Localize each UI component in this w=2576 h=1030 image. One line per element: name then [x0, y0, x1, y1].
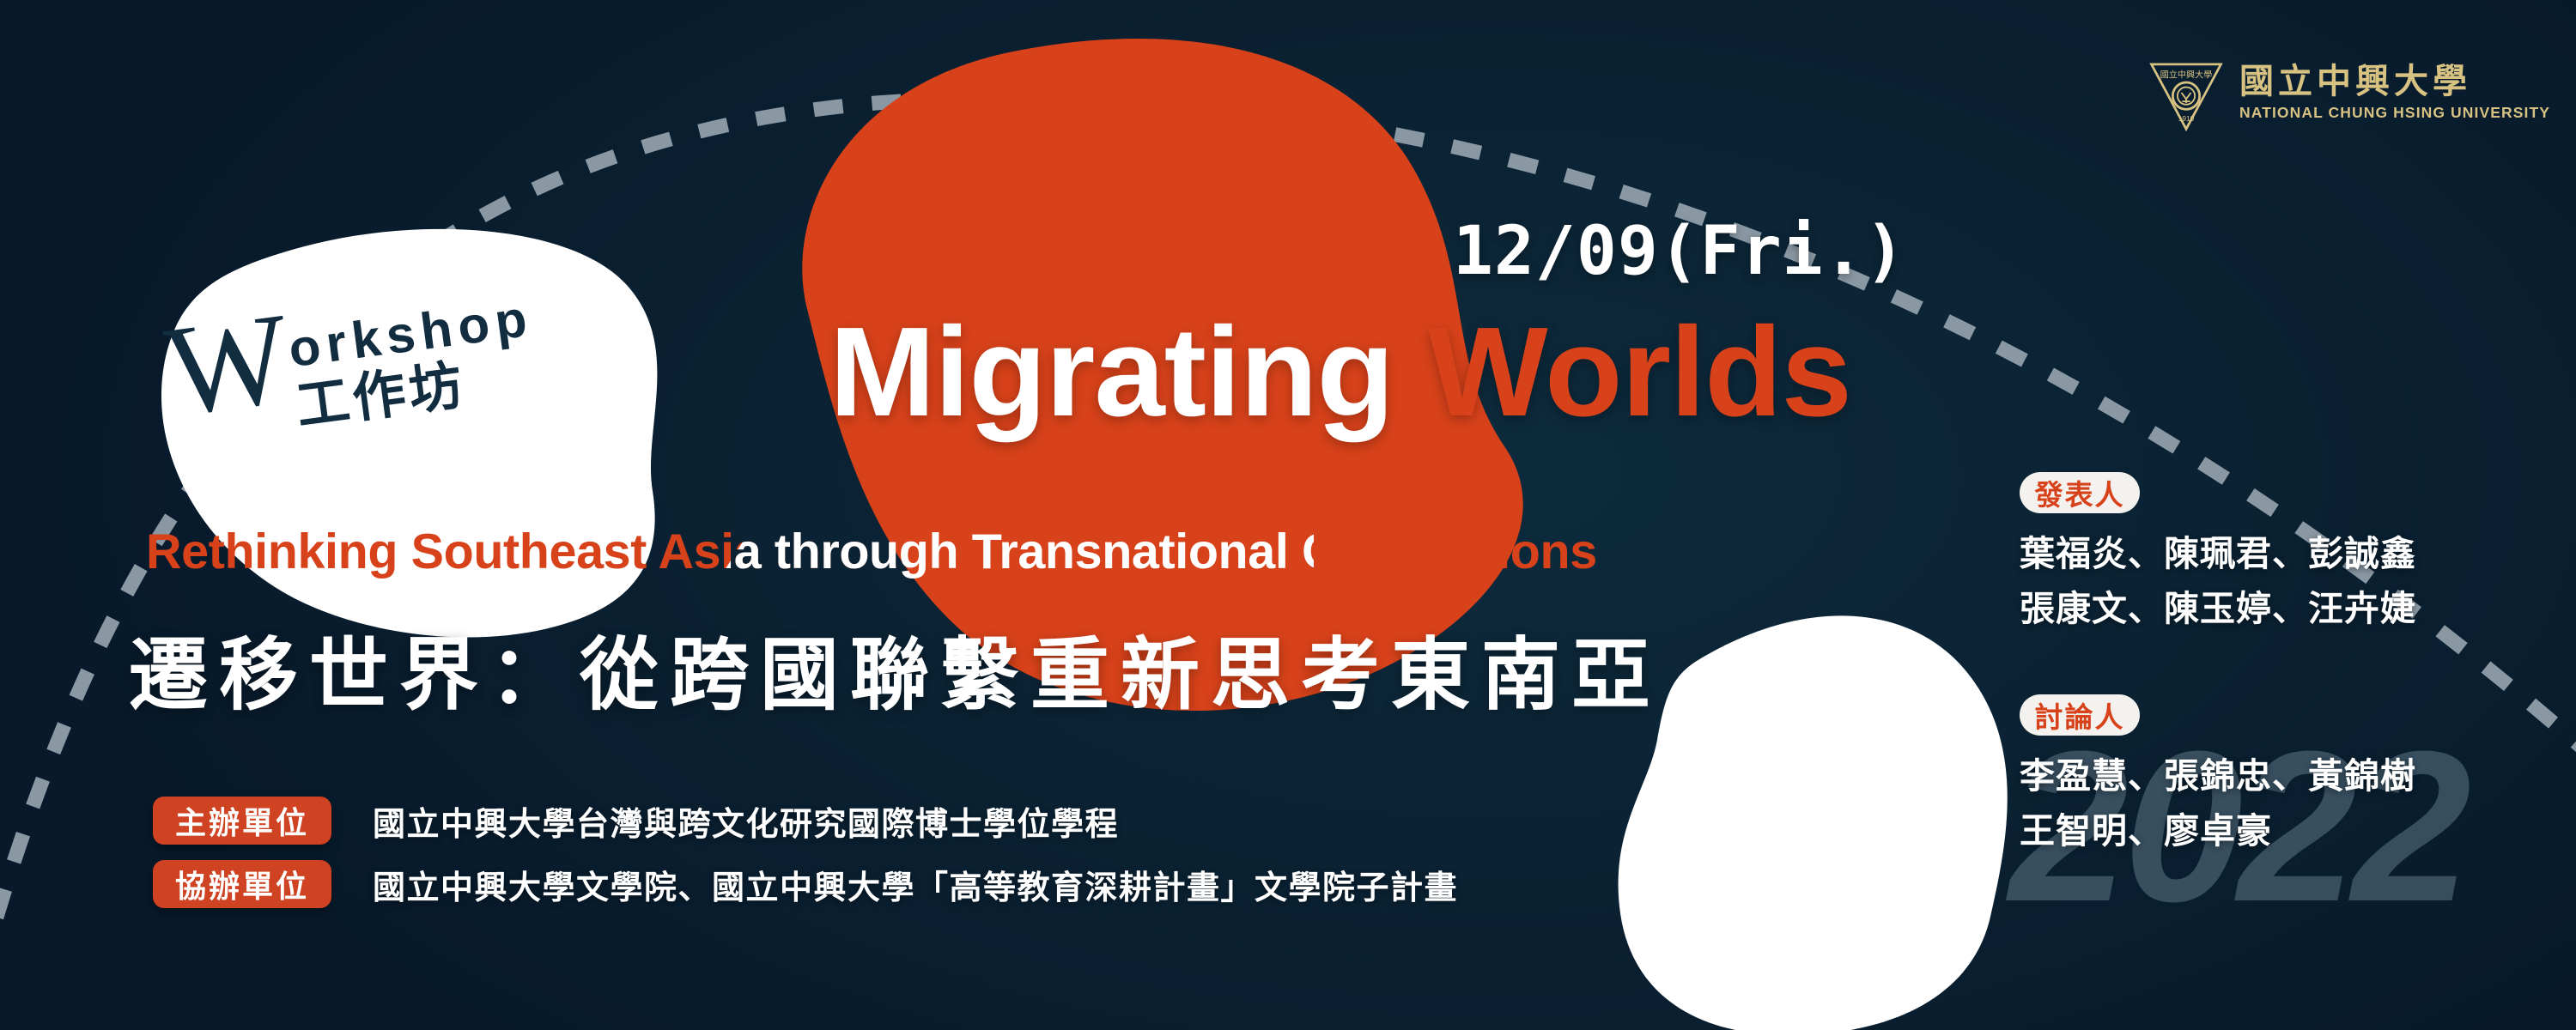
- discussants-line: 王智明、廖卓豪: [2020, 804, 2535, 859]
- title-cn-base-layer: 遷移世界：從跨國聯繫重新思考東南亞: [129, 620, 1975, 731]
- event-title: Migrating Worlds: [829, 309, 1851, 436]
- co-organizer-badge: 協辦單位: [153, 860, 331, 908]
- presenters-badge: 發表人: [2020, 472, 2140, 513]
- discussants-line: 李盈慧、張錦忠、黃錦樹: [2020, 749, 2535, 804]
- university-crest-icon: 國立中興大學 1919: [2147, 53, 2226, 132]
- presenters-line: 張康文、陳玉婷、汪卉婕: [2020, 582, 2535, 637]
- event-subtitle: Rethinking Southeast Asia through Transn…: [146, 515, 1975, 589]
- event-poster: 2022 國立中興大學 1919 國立中興大學 NATIONAL CHUNG H…: [0, 0, 2576, 1030]
- title-part-worlds: Worlds: [1428, 301, 1851, 443]
- people-panel: 發表人 葉福炎、陳珮君、彭誠鑫 張康文、陳玉婷、汪卉婕 討論人 李盈慧、張錦忠、…: [2020, 472, 2535, 917]
- presenters-line: 葉福炎、陳珮君、彭誠鑫: [2020, 527, 2535, 582]
- event-date: 12/09(Fri.): [1453, 213, 1906, 290]
- organizer-row: 協辦單位 國立中興大學文學院、國立中興大學「高等教育深耕計畫」文學院子計畫: [153, 860, 1458, 908]
- organizer-name: 國立中興大學台灣與跨文化研究國際博士學位學程: [373, 797, 1119, 845]
- co-organizer-name: 國立中興大學文學院、國立中興大學「高等教育深耕計畫」文學院子計畫: [373, 861, 1458, 908]
- organizer-badge: 主辦單位: [153, 797, 331, 845]
- event-title-cn: 遷移世界：從跨國聯繫重新思考東南亞 遷移世界：從跨國聯繫重新思考東南亞: [129, 620, 1975, 731]
- discussants-badge: 討論人: [2020, 694, 2140, 736]
- svg-text:國立中興大學: 國立中興大學: [2160, 70, 2213, 81]
- organizer-row: 主辦單位 國立中興大學台灣與跨文化研究國際博士學位學程: [153, 797, 1458, 845]
- presenters-block: 發表人 葉福炎、陳珮君、彭誠鑫 張康文、陳玉婷、汪卉婕: [2020, 472, 2535, 636]
- logo-name-en: NATIONAL CHUNG HSING UNIVERSITY: [2239, 106, 2550, 121]
- logo-name-cn: 國立中興大學: [2239, 64, 2550, 99]
- svg-text:1919: 1919: [2178, 115, 2195, 123]
- discussants-block: 討論人 李盈慧、張錦忠、黃錦樹 王智明、廖卓豪: [2020, 694, 2535, 858]
- title-part-migrating: Migrating: [829, 301, 1394, 443]
- workshop-initial: W: [161, 307, 295, 422]
- organizer-list: 主辦單位 國立中興大學台灣與跨文化研究國際博士學位學程 協辦單位 國立中興大學文…: [153, 797, 1458, 924]
- university-logo: 國立中興大學 1919 國立中興大學 NATIONAL CHUNG HSING …: [2147, 53, 2550, 132]
